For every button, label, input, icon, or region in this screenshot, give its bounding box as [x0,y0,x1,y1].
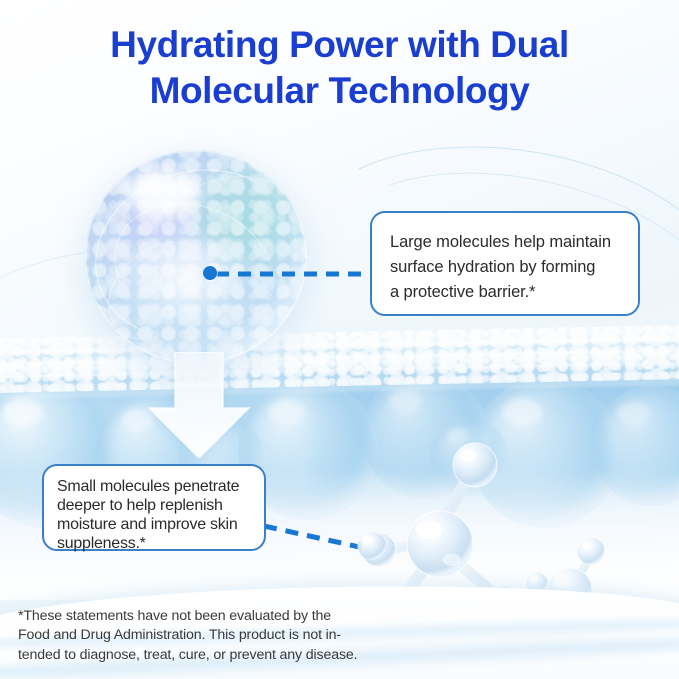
molecule-anchor-atom [358,532,386,560]
infographic-canvas: Hydrating Power with Dual Molecular Tech… [0,0,679,679]
callout-small-molecule: Small molecules penetrate deeper to help… [42,464,266,551]
large-molecule-sphere [85,150,307,364]
molecule-large [362,443,520,633]
leader-dot-top [203,266,217,280]
page-title: Hydrating Power with Dual Molecular Tech… [0,22,679,114]
downward-penetration-arrow [145,352,253,458]
sphere-rim [85,150,307,364]
leader-line-top [200,258,385,290]
callout-small-molecule-text: Small molecules penetrate deeper to help… [57,477,252,553]
callout-large-molecule-text: Large molecules help maintain surface hy… [390,230,622,305]
molecule-small [526,537,616,641]
fda-disclaimer: *These statements have not been evaluate… [18,607,418,666]
callout-large-molecule: Large molecules help maintain surface hy… [370,211,640,316]
